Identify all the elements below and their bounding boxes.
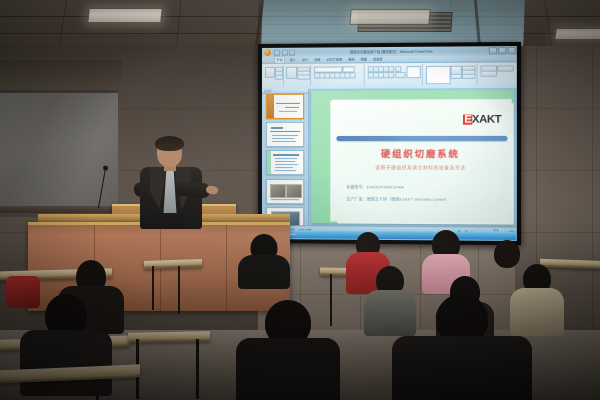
ribbon-group-editing[interactable] (477, 63, 514, 85)
thumbnail-slide-2[interactable]: 2 (266, 122, 304, 147)
delete-slide-button[interactable] (297, 75, 310, 80)
powerpoint-window[interactable]: 硬组织切磨系统介绍 [兼容模式] - Microsoft PowerPoint … (262, 46, 517, 236)
shape-outline-button[interactable] (451, 74, 462, 79)
office-orb-icon[interactable] (263, 48, 272, 57)
slide-manufacturer-line: 生产厂家：德国艾卡特（德国EXAKT Vertriebs GmbH） (346, 197, 505, 203)
desk-leg (178, 266, 180, 314)
audience-person (392, 294, 532, 400)
thumbnail-slide-3[interactable]: 3 (266, 150, 304, 175)
speaker-right-hand (206, 185, 219, 195)
ribbon-group-paragraph[interactable] (365, 64, 423, 86)
new-slide-button[interactable] (286, 67, 297, 79)
audience-person (236, 300, 340, 400)
ceiling-light (349, 9, 430, 25)
ribbon-tab-home[interactable]: 开始 (274, 56, 285, 63)
select-button[interactable] (497, 65, 514, 71)
ribbon-tab-addins[interactable]: 加载项 (371, 56, 383, 62)
slide-subtitle: 适用于硬组织及其它材料的设备及方法 (330, 165, 511, 171)
person-body (238, 255, 290, 289)
thumbnail-slide-4[interactable]: 4 (266, 179, 304, 204)
desk-leg (152, 266, 154, 310)
ribbon-group-drawing[interactable] (423, 64, 478, 86)
slide-divider-bar (336, 136, 507, 141)
ribbon-tab-design[interactable]: 设计 (300, 57, 309, 63)
arrange-button[interactable] (462, 74, 475, 79)
font-color-button[interactable] (350, 72, 356, 78)
lecture-hall-photo: 硬组织切磨系统介绍 [兼容模式] - Microsoft PowerPoint … (0, 0, 600, 400)
slide-title: 硬组织切磨系统 (330, 147, 511, 160)
replace-button[interactable] (481, 71, 498, 77)
ceiling-light (87, 8, 163, 23)
ribbon-group-font[interactable] (311, 64, 365, 85)
person-body (20, 330, 112, 396)
current-slide[interactable]: EXAKT 硬组织切磨系统 适用于硬组织及其它材料的设备及方法 机器型号：E30… (311, 90, 514, 225)
undo-icon[interactable] (282, 49, 288, 55)
ribbon-tab-view[interactable]: 视图 (359, 56, 368, 62)
slide-thumbnail-pane[interactable]: 幻灯片 1 2 (262, 89, 309, 226)
align-text-gallery[interactable] (407, 66, 421, 78)
paste-button[interactable] (265, 67, 275, 78)
audience (0, 238, 600, 400)
audience-person (238, 234, 290, 286)
slide-editing-area[interactable]: EXAKT 硬组织切磨系统 适用于硬组织及其它材料的设备及方法 机器型号：E30… (309, 88, 517, 227)
ribbon-tab-animations[interactable]: 动画 (313, 57, 322, 63)
person-body (392, 336, 532, 400)
convert-smartart-button[interactable] (395, 72, 405, 78)
quick-access-toolbar[interactable] (274, 49, 295, 55)
ceiling-light (554, 28, 600, 40)
ribbon-tab-slideshow[interactable]: 幻灯片放映 (325, 56, 344, 62)
speaker (130, 138, 216, 228)
shapes-gallery[interactable] (426, 66, 451, 84)
desk-leg (196, 339, 199, 399)
screen-surface[interactable]: 硬组织切磨系统介绍 [兼容模式] - Microsoft PowerPoint … (262, 46, 517, 236)
close-icon[interactable] (507, 47, 515, 54)
minimize-icon[interactable] (489, 47, 497, 54)
columns-button[interactable] (388, 72, 394, 78)
exakt-logo: EXAKT (463, 113, 501, 125)
save-icon[interactable] (274, 49, 280, 55)
ribbon-group-clipboard[interactable] (263, 65, 284, 86)
thumbnail-slide-1[interactable]: 1 (266, 94, 304, 119)
board-header-shadow (0, 60, 122, 92)
slide-content-panel: EXAKT 硬组织切磨系统 适用于硬组织及其它材料的设备及方法 机器型号：E30… (330, 99, 511, 222)
blackboard-rail (0, 206, 122, 213)
window-title: 硬组织切磨系统介绍 [兼容模式] - Microsoft PowerPoint (295, 48, 489, 54)
window-controls[interactable] (489, 47, 516, 54)
slide-model-line: 机器型号：E300CP/400CS/AW (346, 185, 505, 191)
ribbon[interactable] (262, 62, 517, 90)
ribbon-tab-review[interactable]: 审阅 (347, 56, 356, 62)
maximize-icon[interactable] (498, 47, 506, 54)
person-body (236, 338, 340, 400)
ribbon-tab-insert[interactable]: 插入 (288, 57, 297, 63)
projection-screen[interactable]: 硬组织切磨系统介绍 [兼容模式] - Microsoft PowerPoint … (258, 42, 521, 245)
format-painter-button[interactable] (275, 75, 283, 80)
speaker-hair (155, 136, 184, 151)
ribbon-group-slides[interactable] (284, 65, 311, 86)
exakt-logo-text: XAKT (472, 113, 501, 125)
